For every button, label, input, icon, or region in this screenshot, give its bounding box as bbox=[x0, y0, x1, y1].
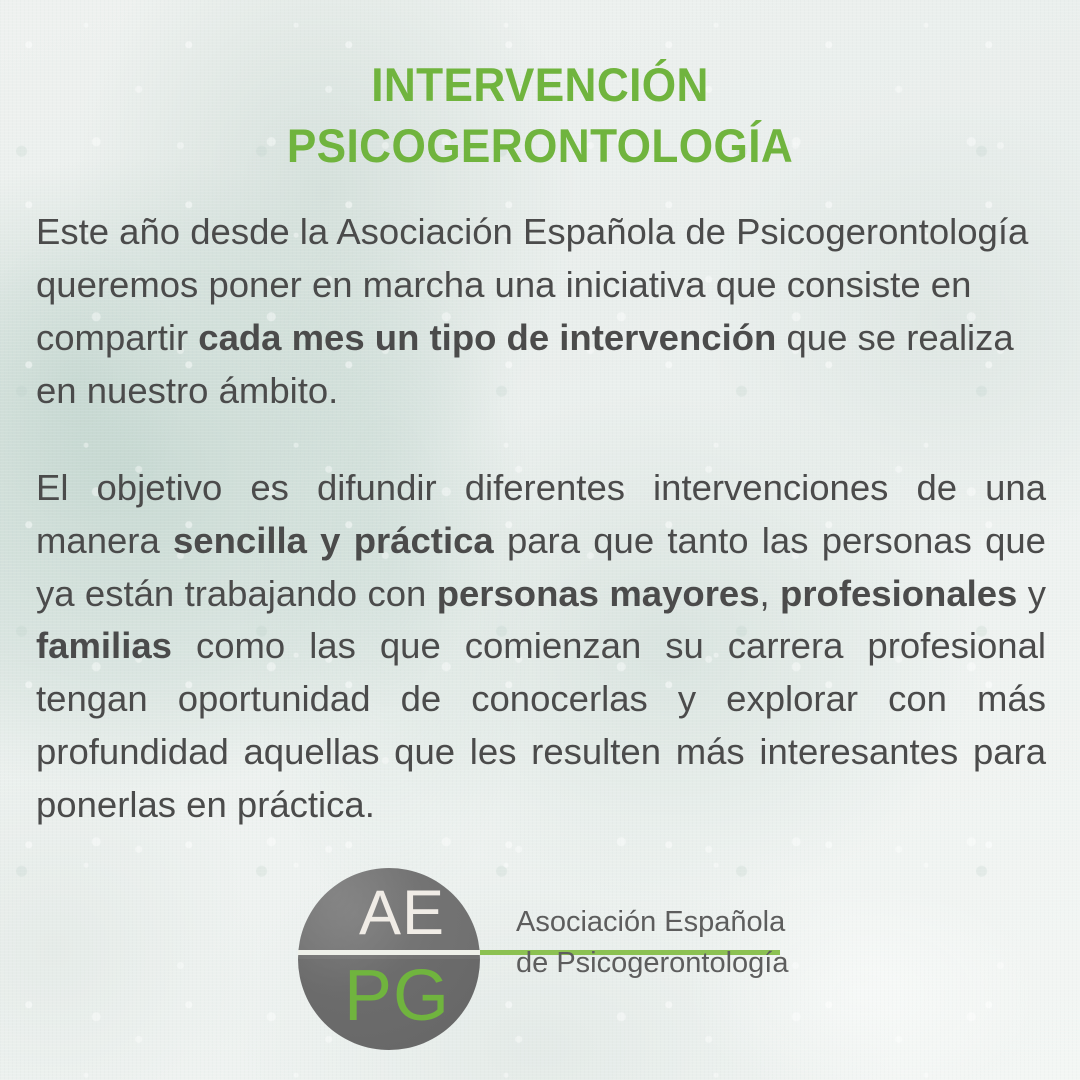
logo-wordmark-line-2: de Psicogerontología bbox=[516, 943, 816, 984]
logo-wordmark-line-1: Asociación Española bbox=[516, 902, 816, 943]
poster-canvas: INTERVENCIÓN PSICOGERONTOLOGÍA Este año … bbox=[0, 0, 1080, 1080]
paragraph-intro: Este año desde la Asociación Española de… bbox=[36, 206, 1046, 418]
paragraph-intro-emphasis-1: cada mes un tipo de intervención bbox=[198, 317, 776, 358]
logo-letters-ae: AE bbox=[298, 882, 480, 945]
paragraph-objective-run-3: , bbox=[760, 573, 781, 614]
paragraph-objective-emphasis-1: sencilla y práctica bbox=[173, 520, 494, 561]
body-copy: Este año desde la Asociación Española de… bbox=[36, 206, 1046, 832]
logo-wordmark: Asociación Española de Psicogerontología bbox=[516, 902, 816, 984]
paragraph-objective-emphasis-4: familias bbox=[36, 625, 172, 666]
paragraph-objective: El objetivo es difundir diferentes inter… bbox=[36, 462, 1046, 832]
paragraph-objective-run-4: y bbox=[1017, 573, 1046, 614]
page-title-line-1: INTERVENCIÓN bbox=[32, 55, 1047, 115]
page-title-line-2: PSICOGERONTOLOGÍA bbox=[32, 116, 1047, 176]
poster-content: INTERVENCIÓN PSICOGERONTOLOGÍA Este año … bbox=[0, 0, 1080, 1080]
logo-divider-line-inner bbox=[298, 950, 480, 955]
logo-letters-pg: PG bbox=[298, 960, 480, 1032]
aepg-logo: AE PG Asociación Española de Psicogeront… bbox=[298, 864, 798, 1054]
paragraph-objective-run-5: como las que comienzan su carrera profes… bbox=[36, 625, 1046, 825]
paragraph-objective-emphasis-2: personas mayores bbox=[437, 573, 760, 614]
logo-circle-mark: AE PG bbox=[298, 868, 480, 1050]
page-title: INTERVENCIÓN PSICOGERONTOLOGÍA bbox=[32, 55, 1047, 175]
paragraph-objective-emphasis-3: profesionales bbox=[780, 573, 1017, 614]
